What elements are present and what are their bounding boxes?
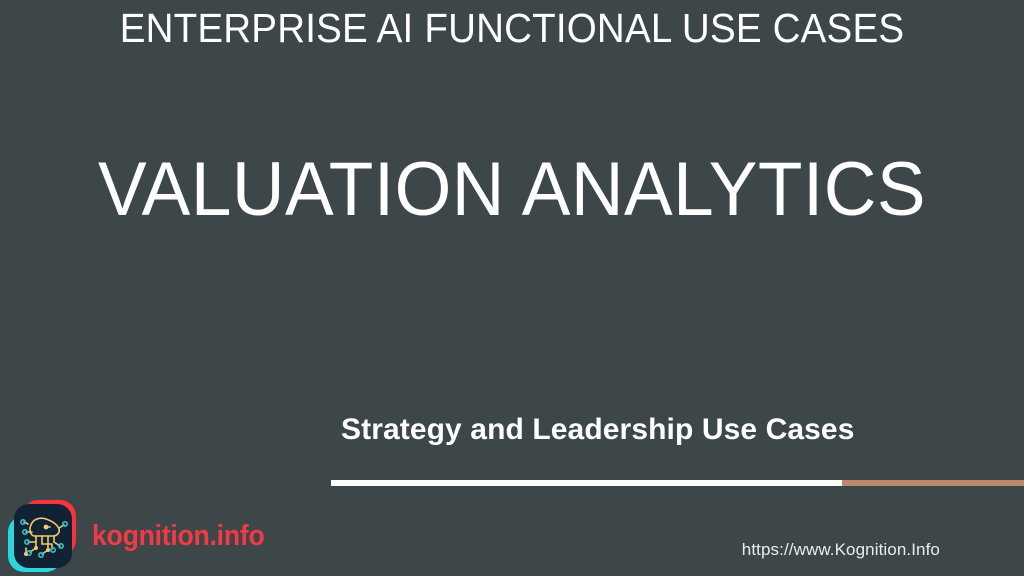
slide-canvas: ENTERPRISE AI FUNCTIONAL USE CASES VALUA…: [0, 0, 1024, 576]
divider: [331, 480, 1024, 486]
page-title: VALUATION ANALYTICS: [20, 150, 1003, 230]
slide-eyebrow: ENTERPRISE AI FUNCTIONAL USE CASES: [31, 6, 994, 51]
brand-wordmark: kognition.info: [92, 520, 264, 553]
slide-subtitle: Strategy and Leadership Use Cases: [341, 412, 1001, 448]
divider-accent-segment: [842, 480, 1024, 486]
logo-tile: [14, 504, 72, 568]
footer-url: https://www.Kognition.Info: [742, 540, 940, 560]
circuit-brain-icon: [14, 504, 72, 568]
kognition-logo-icon: [8, 500, 80, 572]
divider-primary-segment: [331, 480, 842, 486]
brand-lockup: kognition.info: [8, 498, 238, 574]
